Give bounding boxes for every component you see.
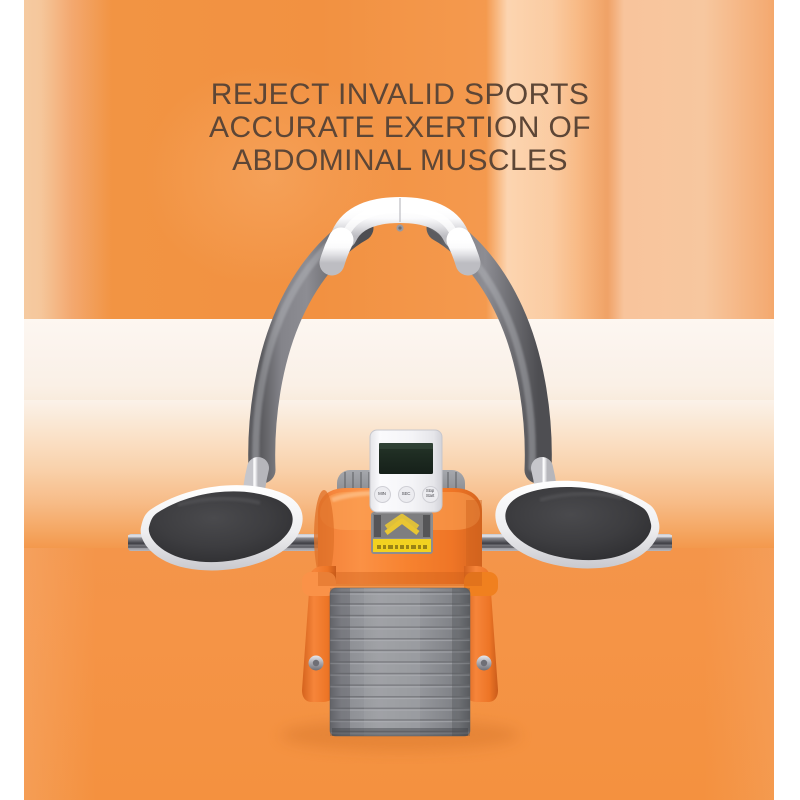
timer-minute-button-label: MIN [378,492,386,496]
axle-bolt-left-center-icon [313,660,319,666]
timer-lcd-glare [379,443,433,449]
timer-minute-button[interactable]: MIN [374,486,391,503]
headline-line-1: REJECT INVALID SPORTS [0,78,800,111]
warning-label-text-marks [377,545,427,549]
knee-pad-right [495,481,659,569]
axle-bolt-right-center-icon [481,660,487,666]
page-margin-left [0,0,24,800]
headline-line-3: ABDOMINAL MUSCLES [0,144,800,177]
tube-join-right [459,240,468,263]
knee-pad-left [141,485,303,570]
page-margin-right [774,0,800,800]
crossbar-screw-slot-icon [398,226,401,229]
timer-stop-start-button[interactable]: Stop Start [422,486,439,503]
timer-stop-start-button-label: Stop Start [426,489,434,498]
main-roller-center-sheen [364,588,420,736]
main-roller [330,588,470,736]
headline: REJECT INVALID SPORTS ACCURATE EXERTION … [0,78,800,177]
foam-grip-right [440,228,538,470]
main-roller-left-shade [330,588,350,736]
timer-second-button-label: SEC [402,492,411,496]
timer-button-row: MIN SEC Stop Start [370,483,442,505]
tube-join-left [332,240,341,263]
main-roller-bottom-shade [332,728,468,736]
main-roller-right-shade [452,588,470,736]
headline-line-2: ACCURATE EXERTION OF [0,111,800,144]
main-body-undershade [318,572,482,586]
warning-label [371,512,433,554]
timer-second-button[interactable]: SEC [398,486,415,503]
product-banner-image: REJECT INVALID SPORTS ACCURATE EXERTION … [0,0,800,800]
